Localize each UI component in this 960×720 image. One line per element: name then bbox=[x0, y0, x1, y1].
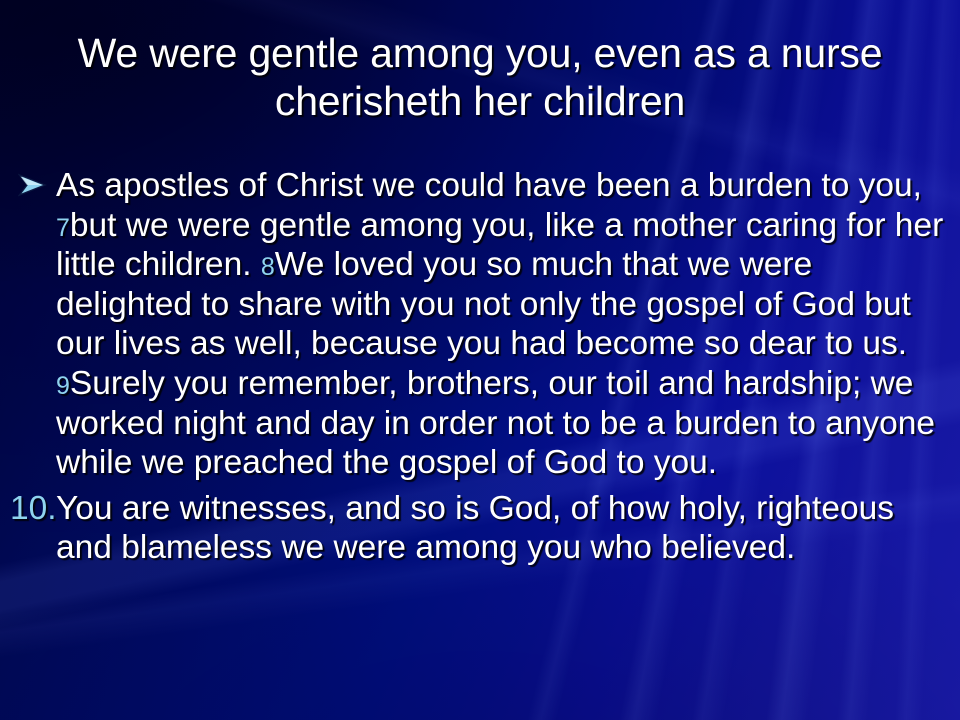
slide-canvas: We were gentle among you, even as a nurs… bbox=[0, 0, 960, 720]
body-text-run: Surely you remember, brothers, our toil … bbox=[56, 365, 935, 481]
body-paragraph-bulleted: As apostles of Christ we could have been… bbox=[10, 166, 950, 483]
body-paragraph-numbered-text: You are witnesses, and so is God, of how… bbox=[56, 490, 894, 567]
body-text-run: You are witnesses, and so is God, of how… bbox=[56, 490, 894, 567]
arrowhead-bullet-icon bbox=[18, 172, 48, 198]
verse-number: 9 bbox=[56, 372, 70, 400]
verse-number: 8 bbox=[261, 253, 275, 281]
body-paragraph-numbered: 10. You are witnesses, and so is God, of… bbox=[10, 489, 950, 568]
slide-content: We were gentle among you, even as a nurs… bbox=[0, 0, 960, 720]
slide-body: As apostles of Christ we could have been… bbox=[10, 166, 950, 568]
body-text-run: As apostles of Christ we could have been… bbox=[56, 167, 922, 204]
body-paragraph-bulleted-text: As apostles of Christ we could have been… bbox=[56, 167, 943, 481]
list-number-marker: 10. bbox=[10, 489, 54, 529]
verse-number: 7 bbox=[56, 214, 70, 242]
slide-title: We were gentle among you, even as a nurs… bbox=[26, 30, 934, 125]
